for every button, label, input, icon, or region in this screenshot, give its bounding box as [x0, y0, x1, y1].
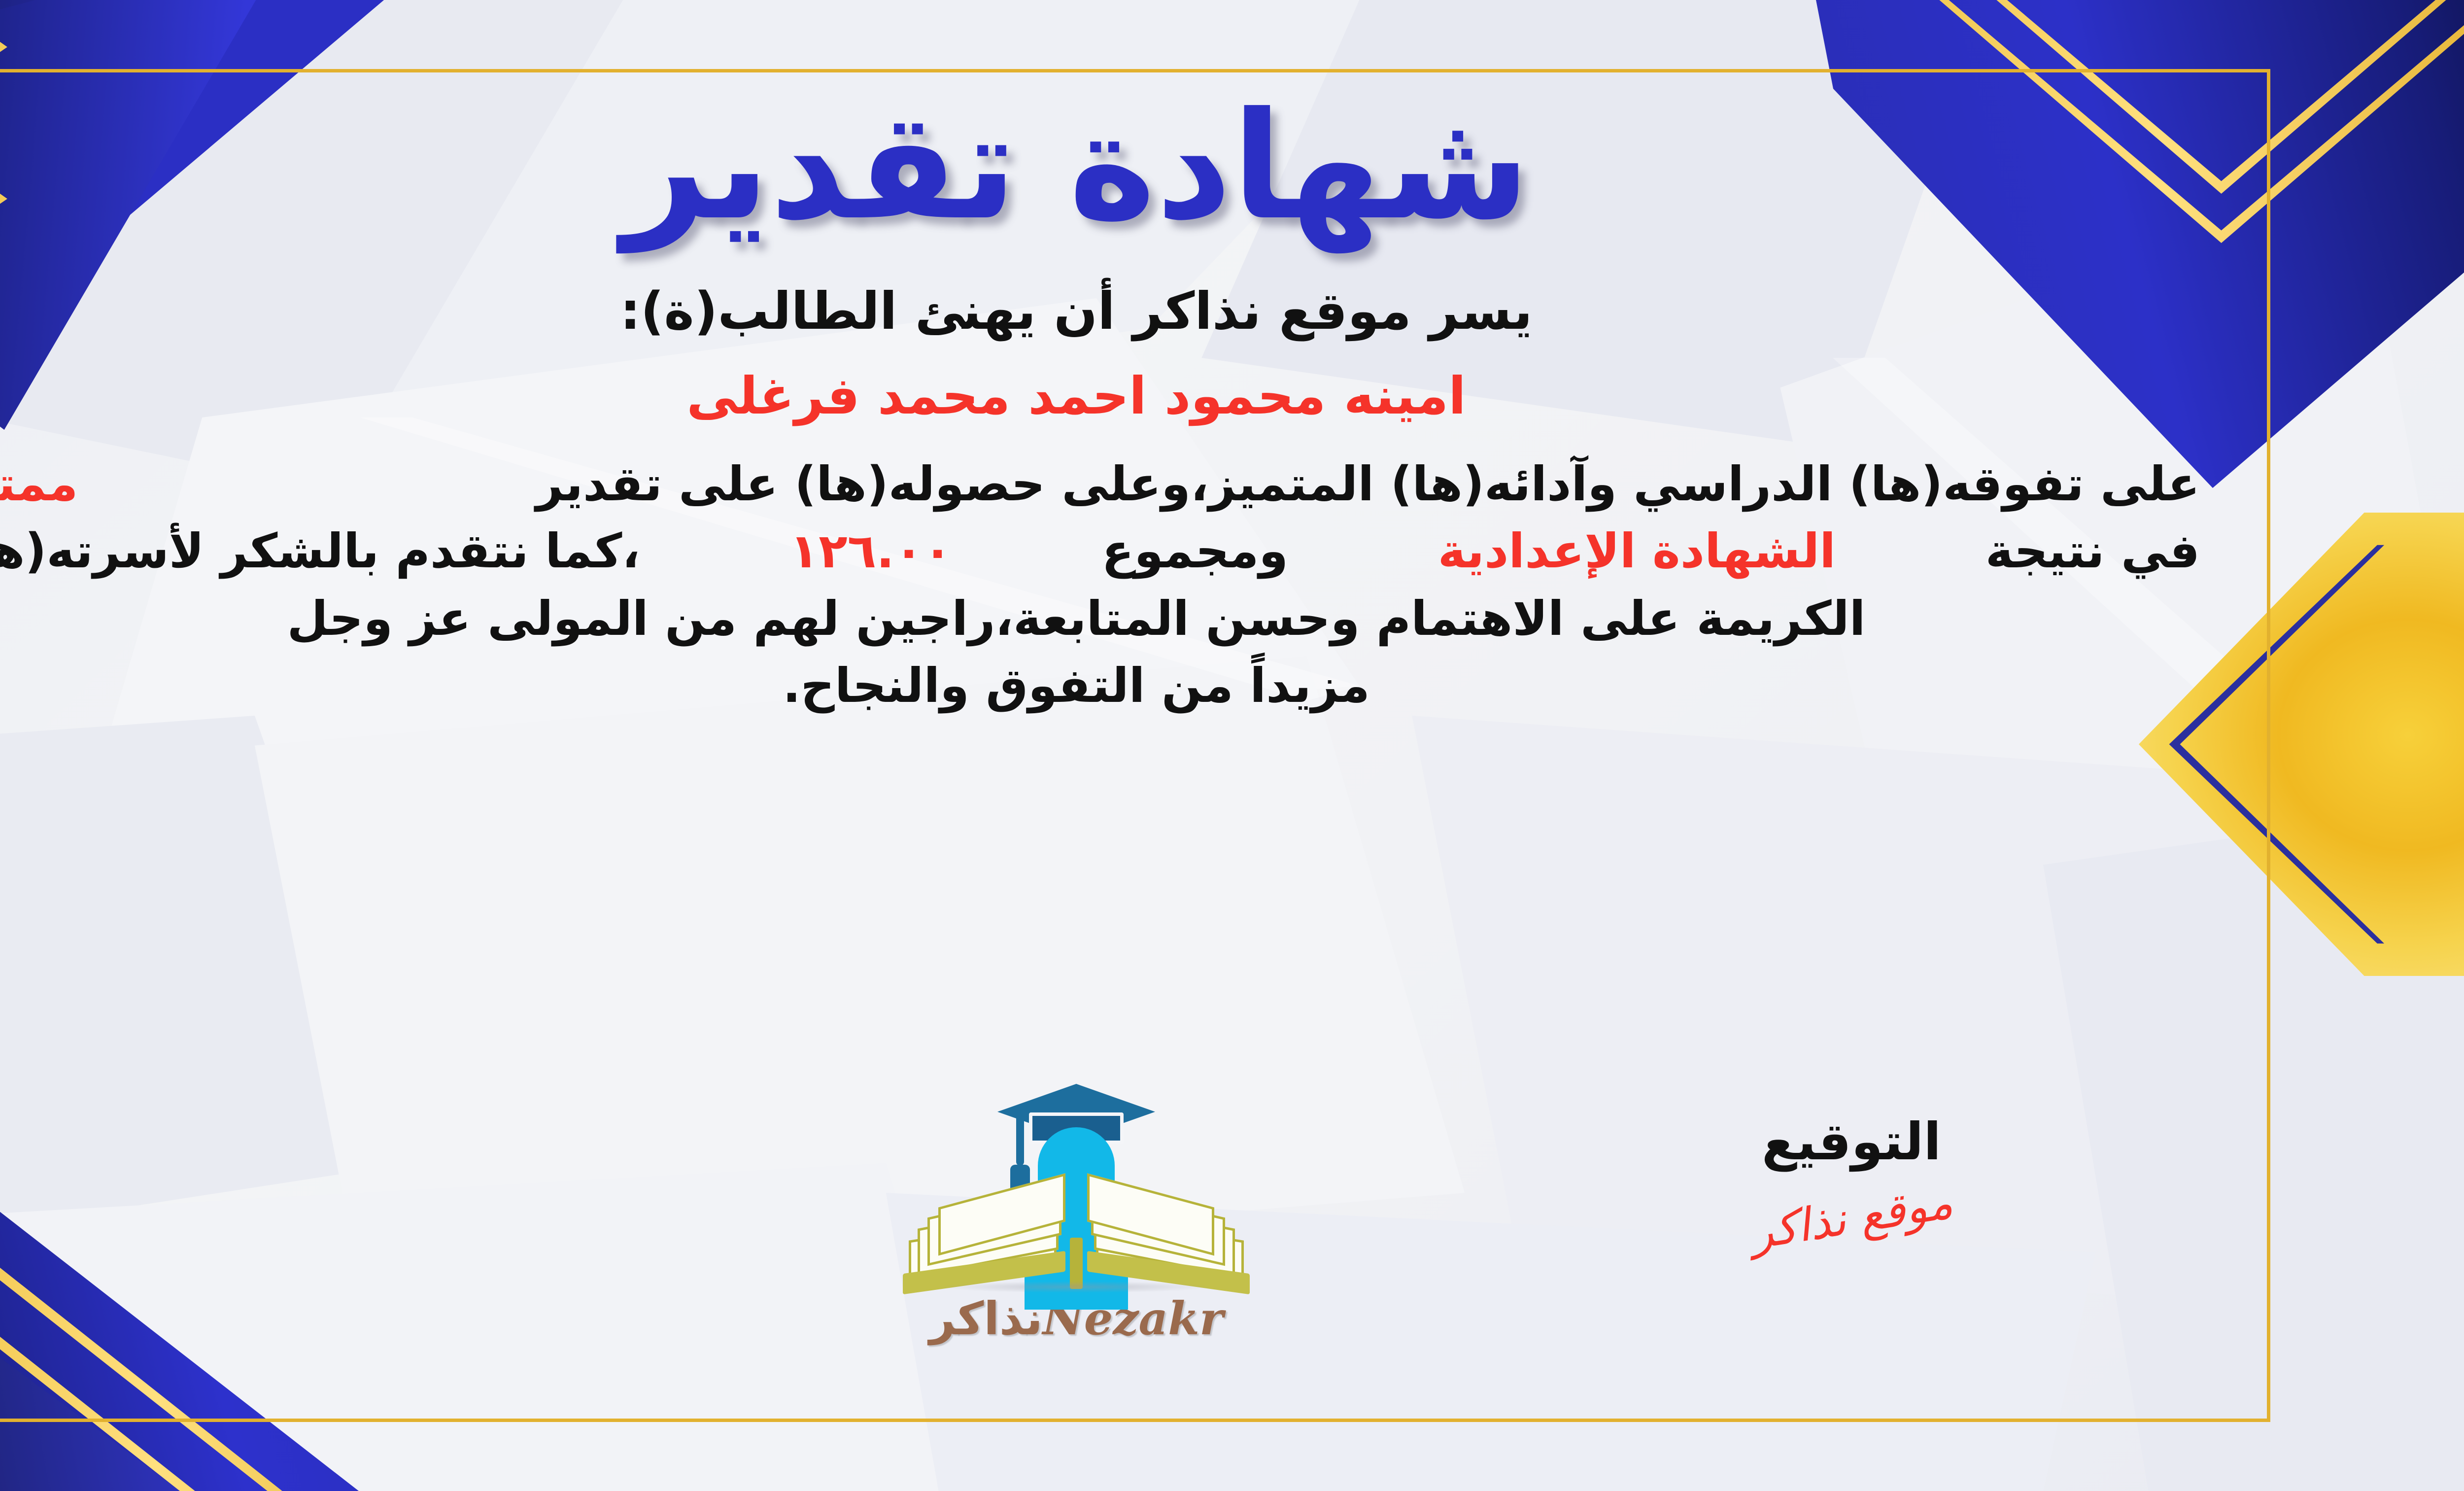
signature-block: التوقيع موقع نذاكر — [1679, 1111, 2024, 1244]
body-line-4-text: مزيداً من التفوق والنجاح. — [783, 652, 1370, 719]
intro-line: يسر موقع نذاكر أن يهنئ الطالب(ة): — [620, 281, 1532, 341]
body-line-3-text: الكريمة على الاهتمام وحسن المتابعة،راجين… — [287, 585, 1865, 652]
certificate-name-value: الشهادة الإعدادية — [1438, 518, 1836, 585]
signature-script: موقع نذاكر — [1677, 1165, 2026, 1271]
body-line-4: مزيداً من التفوق والنجاح. — [0, 652, 2200, 719]
cap-tassel-icon — [1016, 1108, 1024, 1166]
certificate-canvas: شهادة تقدير يسر موقع نذاكر أن يهنئ الطال… — [0, 0, 2464, 1491]
site-logo: Nezakrنذاكر — [889, 1082, 1264, 1345]
body-line-2: في نتيجة الشهادة الإعدادية ومجموع ١٢٦.٠٠… — [0, 518, 2200, 585]
body-line-2-tail: ،كما نتقدم بالشكر لأسرته(ها) — [0, 518, 640, 585]
certificate-footer: التوقيع موقع نذاكر — [0, 1082, 2270, 1407]
grade-value: ممتاز — [0, 451, 78, 518]
body-line-1: على تفوقه(ها) الدراسي وآدائه(ها) المتميز… — [0, 451, 2200, 518]
certificate-title: شهادة تقدير — [622, 84, 1530, 249]
total-label: ومجموع — [1102, 518, 1288, 585]
body-line-1-text: على تفوقه(ها) الدراسي وآدائه(ها) المتميز… — [536, 451, 2200, 518]
result-prefix: في نتيجة — [1985, 518, 2200, 585]
graduate-book-logo-icon — [889, 1082, 1264, 1289]
body-line-3: الكريمة على الاهتمام وحسن المتابعة،راجين… — [0, 585, 2200, 652]
total-score-value: ١٢٦.٠٠ — [789, 518, 952, 585]
book-shadow — [938, 1281, 1214, 1293]
signature-label: التوقيع — [1679, 1111, 2024, 1172]
student-name: امينه محمود احمد محمد فرغلى — [686, 366, 1466, 426]
certificate-body: على تفوقه(ها) الدراسي وآدائه(ها) المتميز… — [0, 451, 2200, 719]
certificate-content: شهادة تقدير يسر موقع نذاكر أن يهنئ الطال… — [0, 69, 2270, 1422]
open-book-icon — [889, 1176, 1264, 1289]
